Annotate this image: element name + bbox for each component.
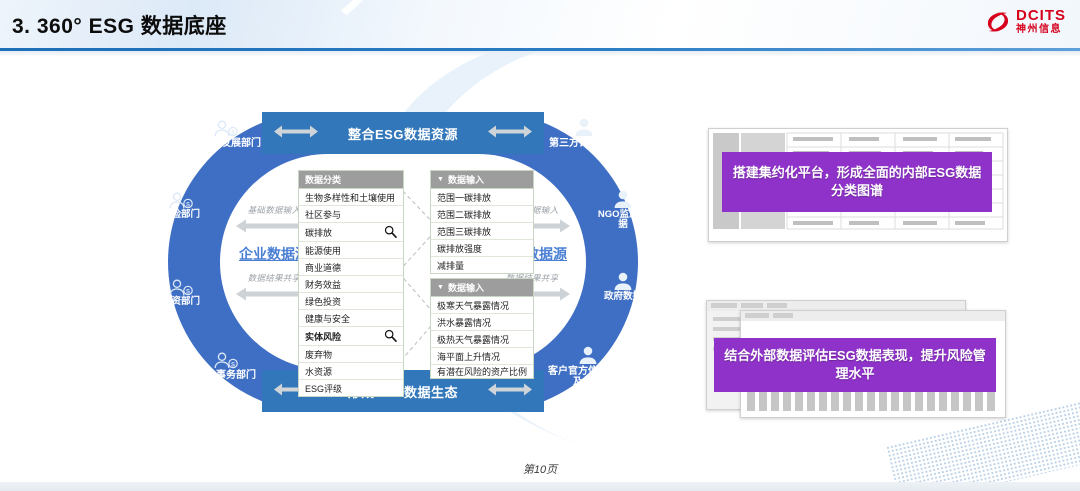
table-row[interactable]: 废弃物 (299, 346, 403, 363)
table-cell-label: 洪水暴露情况 (437, 316, 491, 329)
table-data-input-carbon[interactable]: ▼ 数据输入 范围一碳排放范围二碳排放范围三碳排放碳排放强度减排量 (430, 170, 534, 274)
table-row[interactable]: 范围二碳排放 (431, 206, 533, 223)
table-cell-label: 有潜在风险的资产比例 (437, 367, 527, 377)
actor-government-data: 政府数据 (596, 272, 650, 302)
table-row[interactable]: 减排量 (431, 257, 533, 273)
actor-label: 可持续发展部门 (191, 138, 261, 149)
search-icon[interactable] (384, 329, 397, 344)
table-row[interactable]: 健康与安全 (299, 310, 403, 327)
table-row[interactable]: 能源使用 (299, 242, 403, 259)
table-row[interactable]: 碳排放强度 (431, 240, 533, 257)
table-cell-label: 绿色投资 (305, 295, 341, 308)
callout-banner: 搭建集约化平台，形成全面的内部ESG数据分类图谱 (722, 152, 992, 212)
table-row[interactable]: ESG评级 (299, 380, 403, 396)
table-cell-label: 范围二碳排放 (437, 208, 491, 221)
person-solid-icon (577, 346, 599, 365)
table-row[interactable]: 水资源 (299, 363, 403, 380)
table-cell-label: 财务效益 (305, 278, 341, 291)
table-cell-label: 能源使用 (305, 244, 341, 257)
actor-investment-dept: S 投资部门 (154, 277, 208, 307)
table-row[interactable]: 社区参与 (299, 206, 403, 223)
table-body: 生物多样性和土壤使用社区参与碳排放能源使用商业道德财务效益绿色投资健康与安全实体… (299, 189, 403, 396)
actor-label: 第三方评级机构 (549, 138, 619, 149)
dcits-swirl-icon (985, 9, 1011, 35)
actor-label: 风险部门 (162, 209, 200, 220)
actor-third-party-rating: 第三方评级机构 (540, 118, 628, 149)
actor-label: 客户官方信息披露及估测 (548, 366, 628, 388)
page-number: 第10页 (0, 461, 1080, 477)
band-top-label: 整合ESG数据资源 (348, 124, 458, 143)
table-cell-label: 社区参与 (305, 208, 341, 221)
table-row[interactable]: 实体风险 (299, 327, 403, 346)
table-cell-label: 极热天气暴露情况 (437, 333, 509, 346)
table-cell-label: 范围一碳排放 (437, 191, 491, 204)
svg-text:S: S (186, 289, 190, 295)
person-badge-icon: S (213, 118, 239, 137)
person-solid-icon (612, 272, 634, 291)
table-row[interactable]: 有潜在风险的资产比例 (431, 365, 533, 378)
caret-down-icon: ▼ (437, 284, 444, 291)
svg-text:S: S (231, 362, 235, 368)
actor-label: 公共事务部门 (196, 370, 256, 381)
table-cell-label: 海平面上升情况 (437, 350, 500, 363)
table-header-label: 数据分类 (305, 173, 341, 186)
esg-data-foundation-diagram: 整合ESG数据资源 形成ESG数据生态 S 可持续发展部门 (168, 112, 638, 412)
search-icon[interactable] (384, 225, 397, 240)
double-arrow-icon (274, 125, 318, 141)
page-title: 3. 360° ESG 数据底座 (12, 10, 227, 40)
person-solid-icon (612, 190, 634, 209)
table-row[interactable]: 海平面上升情况 (431, 348, 533, 365)
table-data-classification[interactable]: 数据分类 生物多样性和土壤使用社区参与碳排放能源使用商业道德财务效益绿色投资健康… (298, 170, 404, 397)
table-row[interactable]: 极寒天气暴露情况 (431, 297, 533, 314)
table-cell-label: 生物多样性和土壤使用 (305, 191, 395, 204)
actor-risk-dept: S 风险部门 (154, 190, 208, 220)
actor-label: 政府数据 (604, 291, 642, 302)
caret-down-icon: ▼ (437, 176, 444, 183)
table-data-input-physical-risk[interactable]: ▼ 数据输入 极寒天气暴露情况洪水暴露情况极热天气暴露情况海平面上升情况有潜在风… (430, 278, 534, 379)
header-divider-shadow (0, 51, 1080, 57)
table-row[interactable]: 绿色投资 (299, 293, 403, 310)
person-badge-icon: S (168, 190, 194, 209)
table-cell-label: ESG评级 (305, 382, 342, 395)
table-header: ▼ 数据输入 (431, 279, 533, 297)
table-row[interactable]: 范围一碳排放 (431, 189, 533, 206)
person-badge-icon: S (168, 277, 194, 296)
table-row[interactable]: 洪水暴露情况 (431, 314, 533, 331)
table-cell-label: 范围三碳排放 (437, 225, 491, 238)
callout-intensive-platform: 搭建集约化平台，形成全面的内部ESG数据分类图谱 (708, 128, 1006, 240)
callout-external-data-risk: 结合外部数据评估ESG数据表现，提升风险管理水平 (706, 300, 1008, 420)
table-cell-label: 水资源 (305, 365, 332, 378)
table-row[interactable]: 生物多样性和土壤使用 (299, 189, 403, 206)
logo-wordmark: DCITS 神州信息 (1016, 8, 1066, 35)
actor-client-official-disclosure: 客户官方信息披露及估测 (544, 346, 632, 388)
actor-public-affairs-dept: S 公共事务部门 (182, 350, 270, 381)
actor-label: NGO监测数据 (598, 209, 648, 230)
callout-banner: 结合外部数据评估ESG数据表现，提升风险管理水平 (714, 338, 996, 392)
table-header: 数据分类 (299, 171, 403, 189)
table-header-label: 数据输入 (448, 173, 484, 186)
table-cell-label: 废弃物 (305, 348, 332, 361)
table-row[interactable]: 财务效益 (299, 276, 403, 293)
table-cell-label: 极寒天气暴露情况 (437, 299, 509, 312)
table-cell-label: 实体风险 (305, 330, 341, 343)
table-header: ▼ 数据输入 (431, 171, 533, 189)
table-cell-label: 健康与安全 (305, 312, 350, 325)
table-cell-label: 碳排放强度 (437, 242, 482, 255)
footer-band (0, 482, 1080, 491)
table-row[interactable]: 范围三碳排放 (431, 223, 533, 240)
person-solid-icon (573, 118, 595, 137)
brand-logo: DCITS 神州信息 (985, 8, 1066, 35)
band-integrate-esg-resources: 整合ESG数据资源 (262, 112, 544, 154)
svg-text:S: S (186, 202, 190, 208)
actor-label: 投资部门 (162, 296, 200, 307)
table-row[interactable]: 极热天气暴露情况 (431, 331, 533, 348)
logo-text-en: DCITS (1016, 8, 1066, 23)
table-cell-label: 商业道德 (305, 261, 341, 274)
table-body: 范围一碳排放范围二碳排放范围三碳排放碳排放强度减排量 (431, 189, 533, 273)
person-badge-icon: S (213, 350, 239, 369)
table-body: 极寒天气暴露情况洪水暴露情况极热天气暴露情况海平面上升情况有潜在风险的资产比例 (431, 297, 533, 378)
table-cell-label: 碳排放 (305, 226, 332, 239)
table-row[interactable]: 商业道德 (299, 259, 403, 276)
double-arrow-icon (488, 125, 532, 141)
table-cell-label: 减排量 (437, 259, 464, 272)
table-row[interactable]: 碳排放 (299, 223, 403, 242)
svg-text:S: S (231, 130, 235, 136)
logo-text-cn: 神州信息 (1016, 25, 1066, 35)
double-arrow-icon (488, 383, 532, 399)
actor-sustainability-dept: S 可持续发展部门 (182, 118, 270, 149)
actor-ngo-monitoring-data: NGO监测数据 (596, 190, 650, 231)
table-header-label: 数据输入 (448, 281, 484, 294)
slide-canvas: 3. 360° ESG 数据底座 DCITS 神州信息 整合ESG数据资源 (0, 0, 1080, 491)
